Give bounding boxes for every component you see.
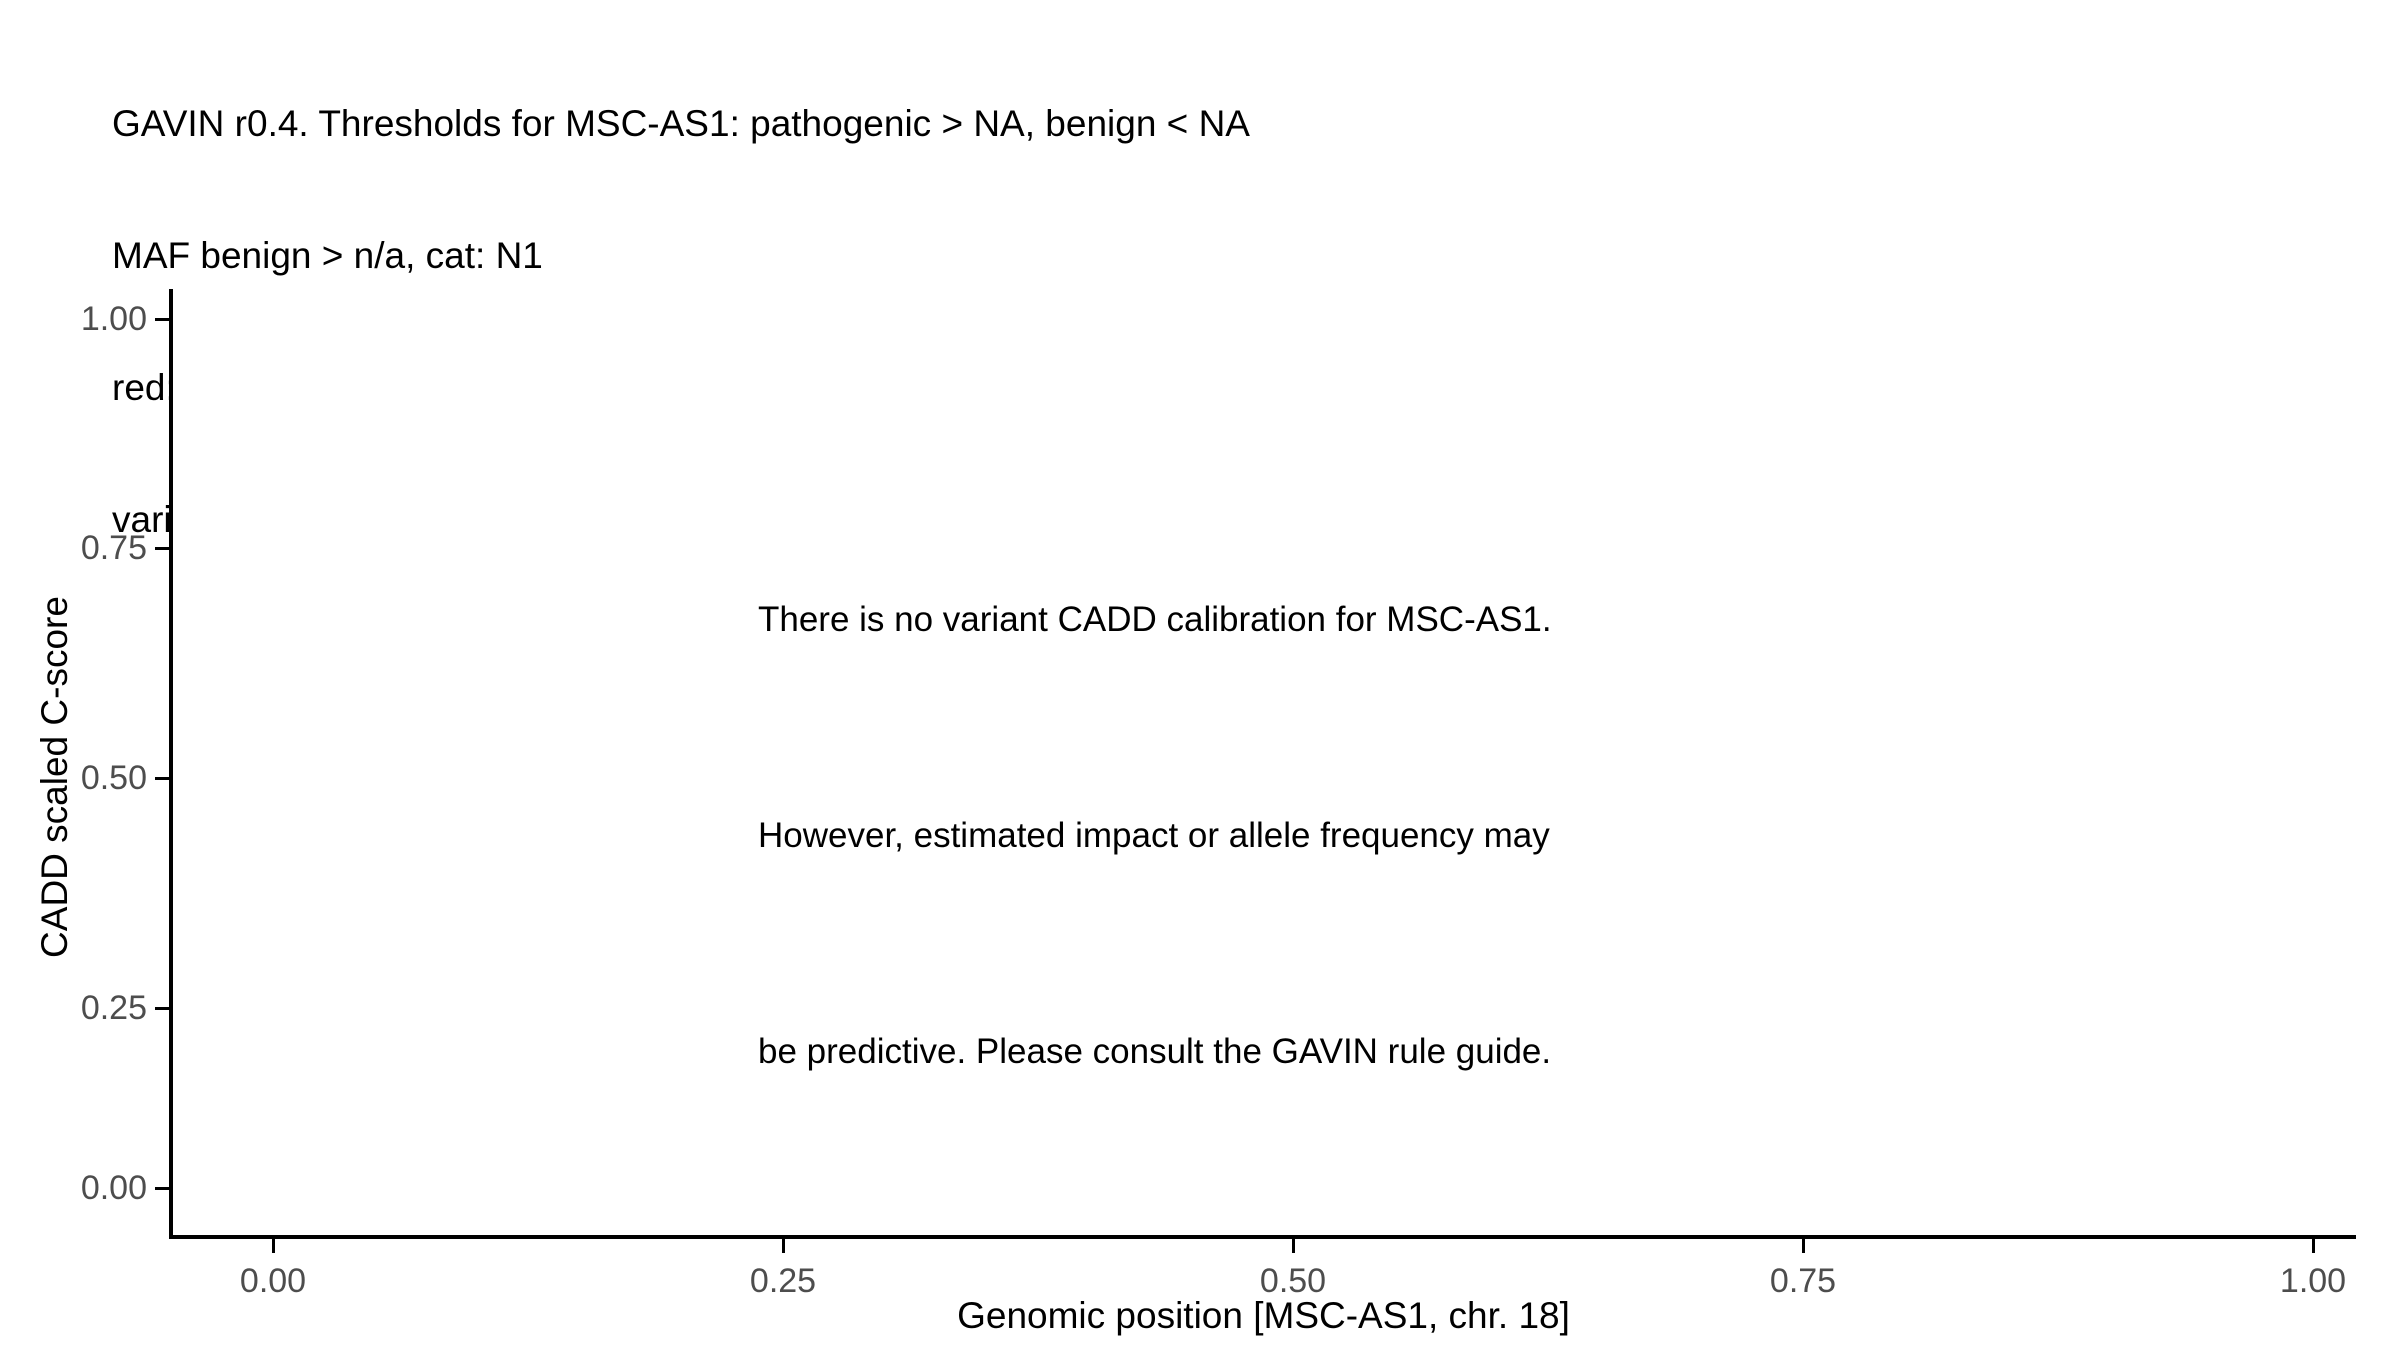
x-tick-mark-1.00: [2312, 1239, 2315, 1253]
y-tick-mark-1.00: [155, 318, 169, 321]
no-calibration-annotation: There is no variant CADD calibration for…: [758, 440, 1552, 1232]
y-tick-mark-0.00: [155, 1187, 169, 1190]
y-tick-mark-0.25: [155, 1007, 169, 1010]
x-axis-title: Genomic position [MSC-AS1, chr. 18]: [171, 1295, 2356, 1337]
annotation-line-2: However, estimated impact or allele freq…: [758, 800, 1552, 872]
x-tick-mark-0.25: [782, 1239, 785, 1253]
x-axis-line: [169, 1235, 2356, 1239]
annotation-line-1: There is no variant CADD calibration for…: [758, 584, 1552, 656]
plot-title-line-2: MAF benign > n/a, cat: N1: [112, 234, 2212, 278]
plot-title-line-1: GAVIN r0.4. Thresholds for MSC-AS1: path…: [112, 102, 2212, 146]
plot-root: GAVIN r0.4. Thresholds for MSC-AS1: path…: [0, 0, 2400, 1350]
x-tick-mark-0.75: [1802, 1239, 1805, 1253]
x-tick-mark-0.50: [1292, 1239, 1295, 1253]
y-axis-line: [169, 289, 173, 1239]
annotation-line-3: be predictive. Please consult the GAVIN …: [758, 1016, 1552, 1088]
y-tick-mark-0.75: [155, 547, 169, 550]
y-tick-mark-0.50: [155, 777, 169, 780]
y-axis-title: CADD scaled C-score: [34, 277, 76, 1277]
x-tick-mark-0.00: [272, 1239, 275, 1253]
